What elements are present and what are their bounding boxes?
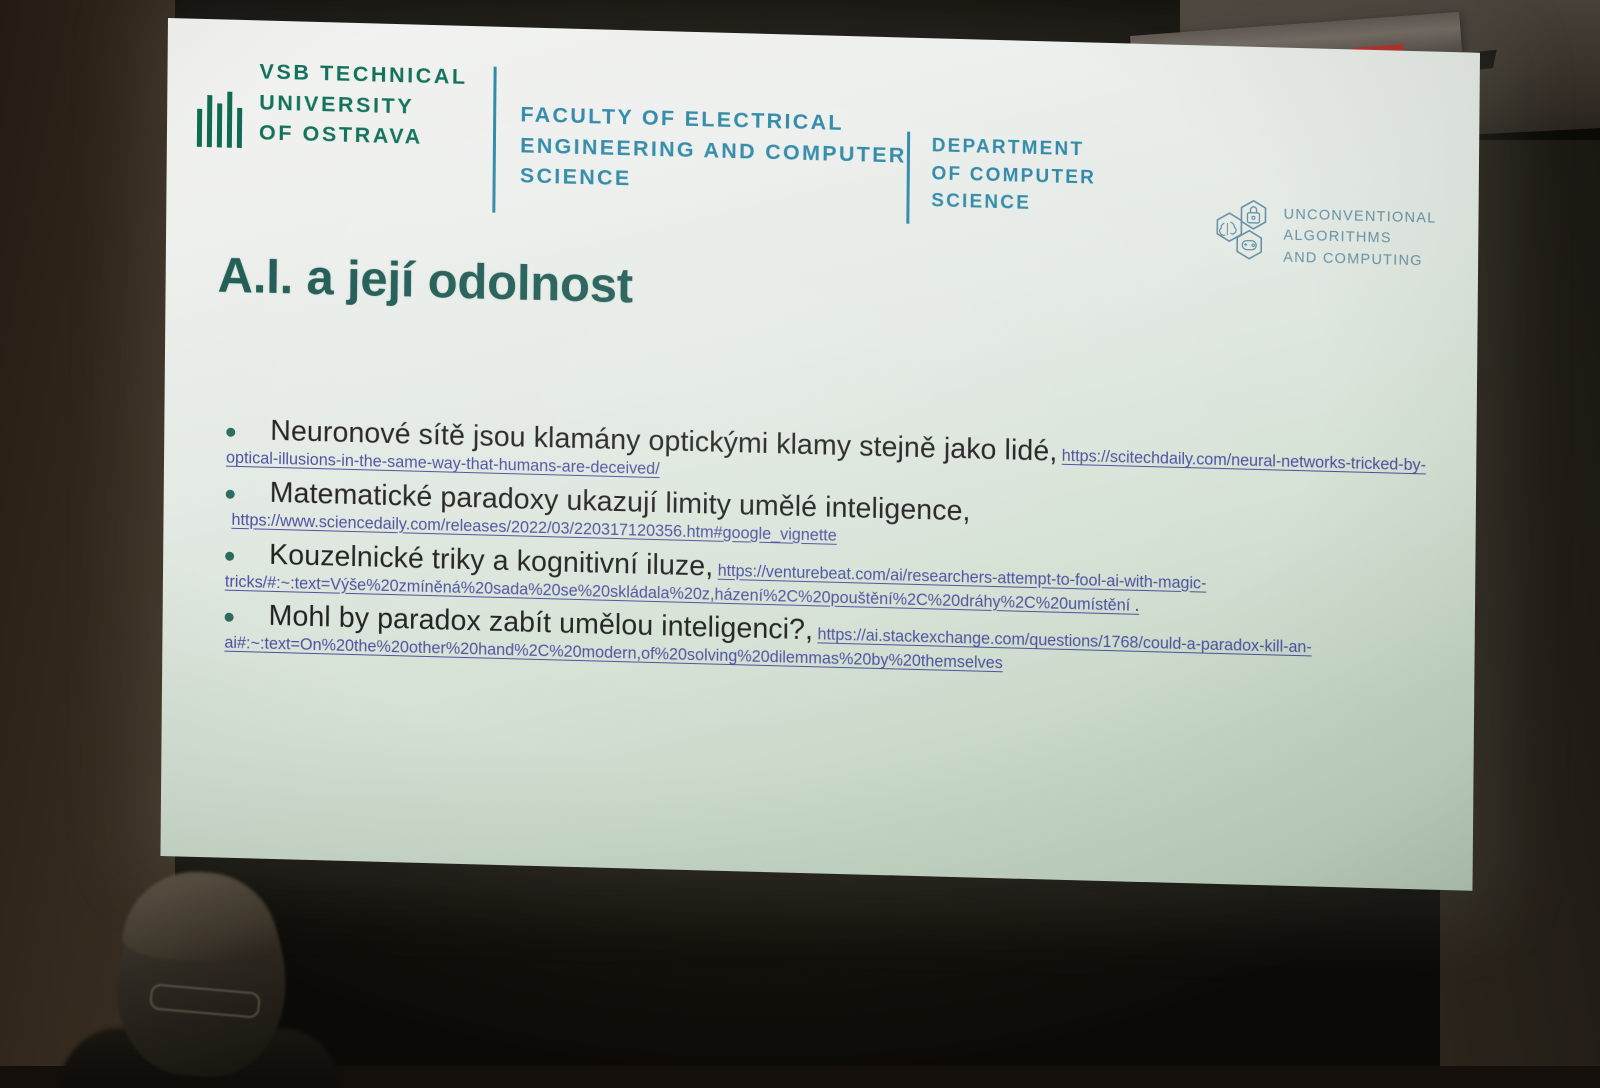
department-line-1: DEPARTMENT [932,132,1097,164]
page-title: A.I. a její odolnost [217,247,633,314]
faculty-text: FACULTY OF ELECTRICAL ENGINEERING AND CO… [520,63,908,201]
department-line-2: OF COMPUTER [931,160,1096,192]
uac-line-3: AND COMPUTING [1283,247,1436,272]
vsb-line-3: OF OSTRAVA [259,117,467,153]
hexagon-cluster-icon [1197,197,1274,273]
projection-screen: VSB TECHNICAL UNIVERSITY OF OSTRAVA FACU… [160,18,1480,891]
bullet-dot-icon [225,551,234,560]
vsb-university-logo: VSB TECHNICAL UNIVERSITY OF OSTRAVA [197,55,494,155]
department-line-3: SCIENCE [931,188,1096,220]
bullet-dot-icon [225,613,234,622]
bullet-dot-icon [226,489,235,498]
unconventional-algorithms-logo: UNCONVENTIONAL ALGORITHMS AND COMPUTING [1197,197,1437,277]
vsb-university-text: VSB TECHNICAL UNIVERSITY OF OSTRAVA [259,56,468,153]
unconventional-algorithms-text: UNCONVENTIONAL ALGORITHMS AND COMPUTING [1283,205,1436,272]
bullet-list: Neuronové sítě jsou klamány optickými kl… [210,411,1442,691]
vsb-line-1: VSB TECHNICAL [259,56,467,92]
vsb-bar-mark-icon [197,79,246,148]
lecture-room: VSB TECHNICAL UNIVERSITY OF OSTRAVA FACU… [0,0,1600,1066]
trailing-period: . [1130,596,1139,614]
slide-header: VSB TECHNICAL UNIVERSITY OF OSTRAVA FACU… [196,55,1097,229]
department-block: DEPARTMENT OF COMPUTER SCIENCE [906,74,1097,229]
bullet-dot-icon [226,428,235,437]
header-divider-1 [493,67,497,213]
department-text: DEPARTMENT OF COMPUTER SCIENCE [931,74,1097,220]
